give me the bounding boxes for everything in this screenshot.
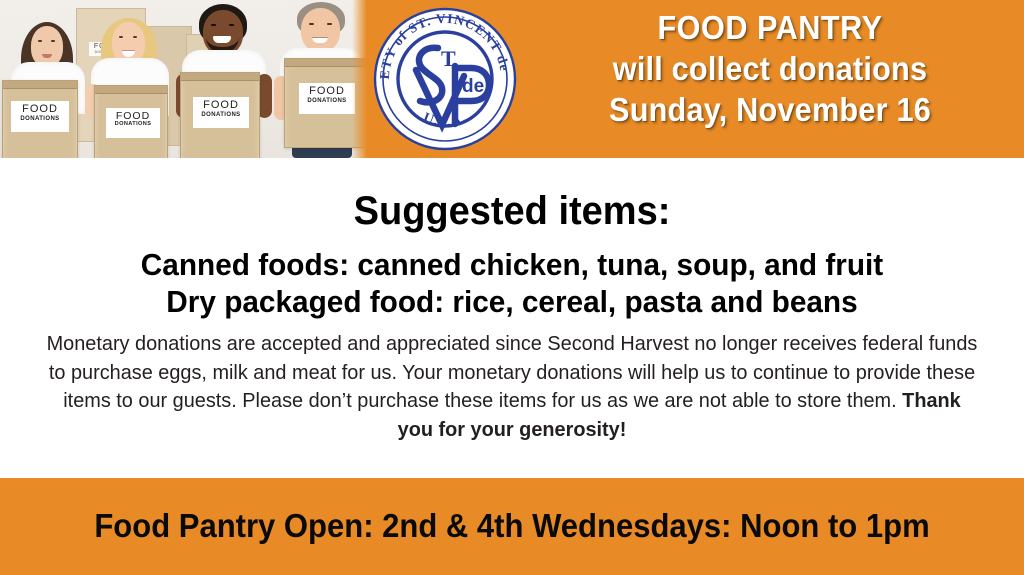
header-title-line-3: Sunday, November 16 bbox=[538, 89, 1003, 130]
donation-box: FOOD DONATIONS bbox=[180, 72, 260, 158]
donation-box: FOOD DONATIONS bbox=[94, 85, 168, 158]
header-title-block: FOOD PANTRY will collect donations Sunda… bbox=[520, 8, 1020, 130]
eye bbox=[211, 24, 216, 26]
box-flap bbox=[3, 81, 77, 89]
box-label-line1: FOOD bbox=[299, 86, 355, 98]
eye bbox=[38, 40, 42, 42]
box-label-line2: DONATIONS bbox=[11, 116, 69, 122]
suggested-items-list: Canned foods: canned chicken, tuna, soup… bbox=[20, 246, 1003, 320]
header-title-line-2: will collect donations bbox=[538, 48, 1003, 89]
header-title-line-1: FOOD PANTRY bbox=[538, 8, 1003, 48]
svg-text:T: T bbox=[441, 46, 456, 71]
monetary-donations-paragraph: Monetary donations are accepted and appr… bbox=[44, 330, 979, 444]
paragraph-body: Monetary donations are accepted and appr… bbox=[47, 332, 978, 412]
donation-box-label: FOOD DONATIONS bbox=[106, 108, 160, 138]
header-banner: FOOD DONATIONS FOOD DONATIONS bbox=[0, 0, 1024, 158]
pantry-hours: Food Pantry Open: 2nd & 4th Wednesdays: … bbox=[31, 506, 994, 546]
eye bbox=[119, 36, 123, 38]
box-label-line2: DONATIONS bbox=[106, 122, 160, 128]
box-label-line1: FOOD bbox=[193, 100, 249, 112]
footer-banner: Food Pantry Open: 2nd & 4th Wednesdays: … bbox=[0, 478, 1024, 575]
box-label-line2: DONATIONS bbox=[299, 98, 355, 104]
eye bbox=[327, 23, 332, 25]
pantry-hours-label: Food Pantry Open: bbox=[94, 507, 373, 544]
box-label-line2: DONATIONS bbox=[193, 112, 249, 118]
box-label-line1: FOOD bbox=[11, 104, 69, 116]
suggested-items-line-2: Dry packaged food: rice, cereal, pasta a… bbox=[20, 283, 1003, 320]
face bbox=[31, 26, 63, 67]
food-pantry-flyer: FOOD DONATIONS FOOD DONATIONS bbox=[0, 0, 1024, 575]
svg-text:de: de bbox=[462, 76, 484, 97]
volunteers-photo: FOOD DONATIONS FOOD DONATIONS bbox=[0, 0, 368, 158]
donation-box-label: FOOD DONATIONS bbox=[299, 83, 355, 114]
main-content: Suggested items: Canned foods: canned ch… bbox=[0, 158, 1024, 478]
eye bbox=[229, 24, 234, 26]
page-title: Suggested items: bbox=[26, 189, 999, 233]
photo-edge-fade bbox=[352, 0, 368, 158]
eye bbox=[51, 40, 55, 42]
donation-box: FOOD DONATIONS bbox=[2, 80, 78, 158]
face bbox=[301, 8, 340, 52]
eye bbox=[309, 23, 314, 25]
donation-box-label: FOOD DONATIONS bbox=[193, 97, 249, 128]
eye bbox=[133, 36, 137, 38]
svdp-seal-icon: SOCIETY of ST. VINCENT de PAUL U.S.A. T bbox=[372, 6, 518, 152]
box-flap bbox=[181, 73, 259, 81]
suggested-items-line-1: Canned foods: canned chicken, tuna, soup… bbox=[20, 246, 1003, 283]
donation-box-label: FOOD DONATIONS bbox=[11, 101, 69, 132]
pantry-hours-value: 2nd & 4th Wednesdays: Noon to 1pm bbox=[374, 507, 930, 544]
box-flap bbox=[95, 86, 167, 94]
svdp-logo: SOCIETY of ST. VINCENT de PAUL U.S.A. T bbox=[372, 6, 518, 152]
